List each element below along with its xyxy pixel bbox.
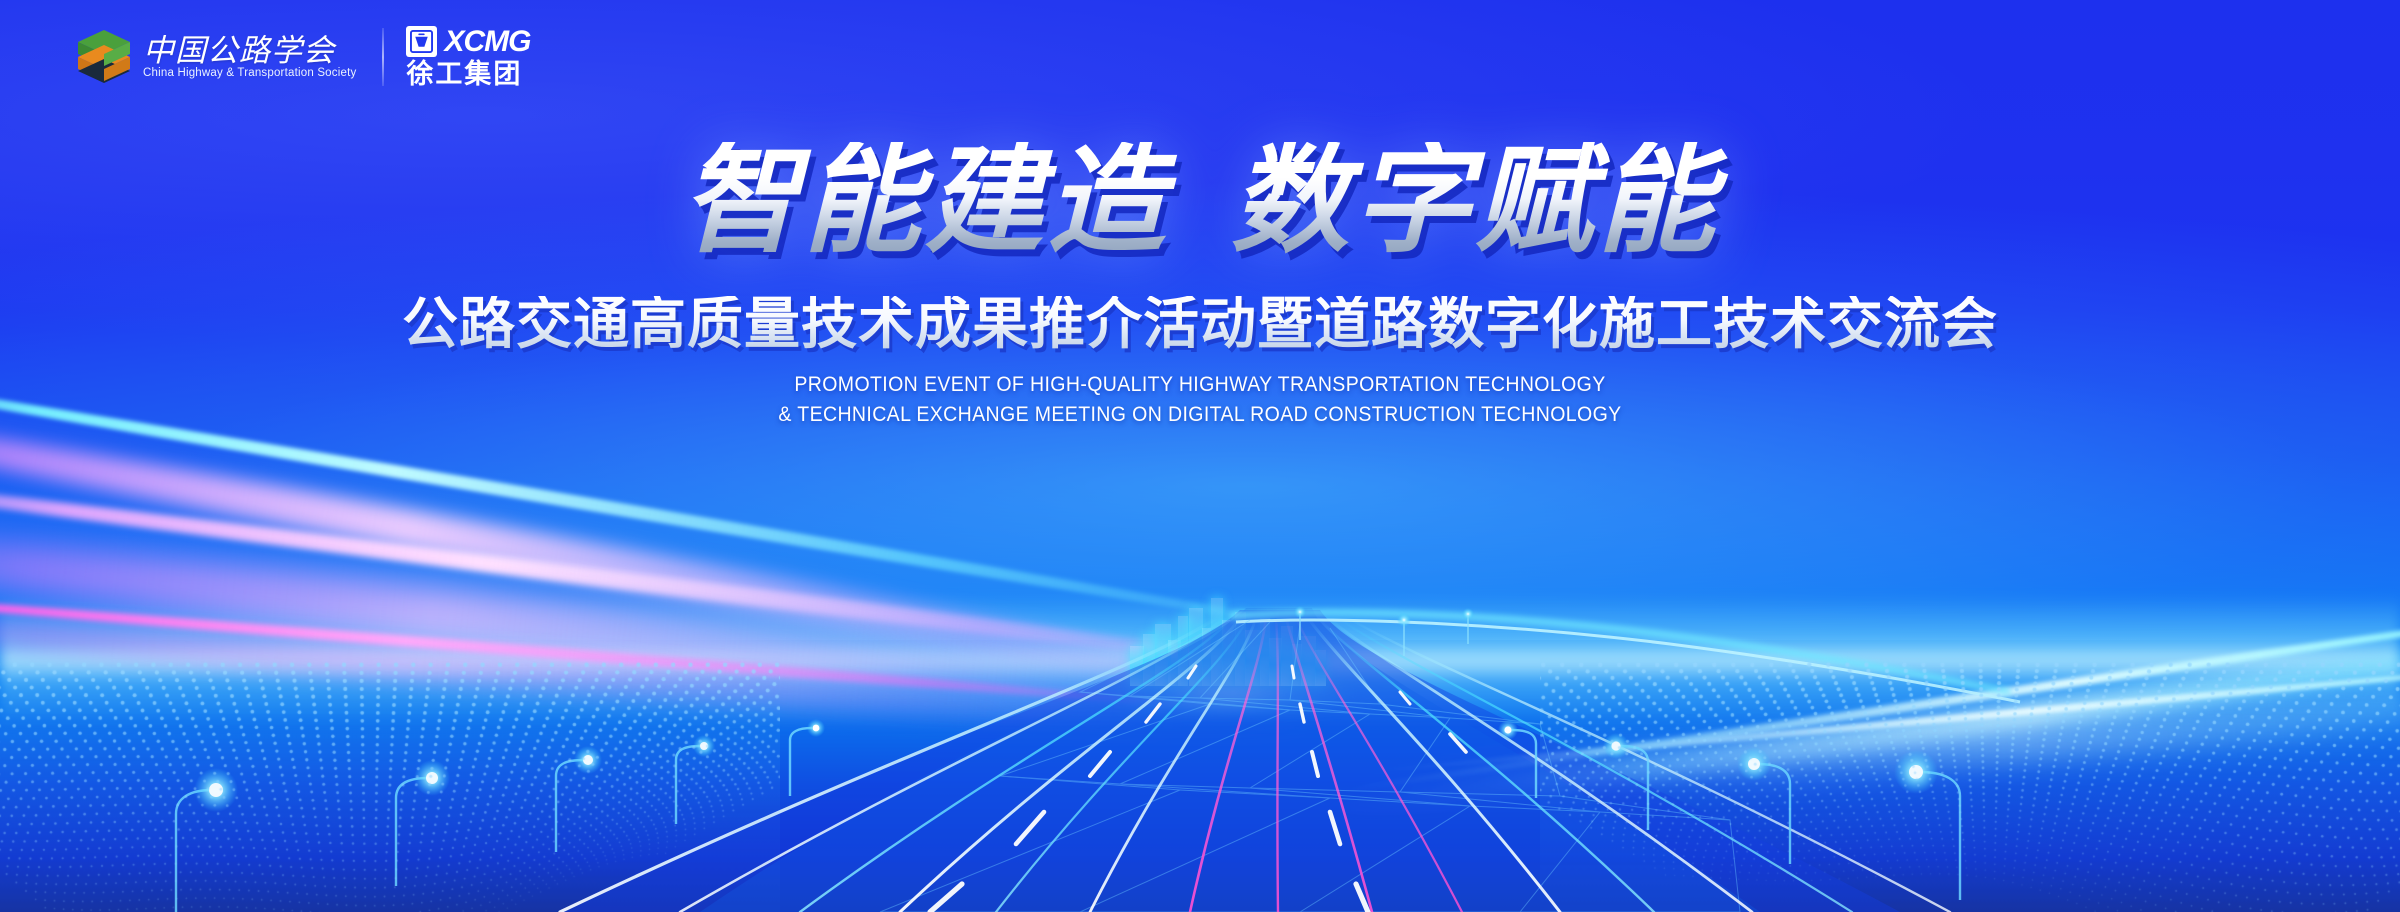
particle-wave-right bbox=[1540, 652, 2400, 912]
city-building bbox=[1143, 634, 1155, 686]
subtitle-chinese: 公路交通高质量技术成果推介活动暨道路数字化施工技术交流会 bbox=[0, 296, 2400, 352]
city-building bbox=[1211, 598, 1223, 686]
city-building bbox=[1222, 620, 1236, 686]
main-title-part2: 数字赋能 bbox=[1231, 135, 1719, 267]
glowing-city-skyline bbox=[1128, 596, 1328, 686]
city-building bbox=[1202, 628, 1211, 686]
city-skyline-glow bbox=[1092, 634, 1368, 712]
digital-highway bbox=[0, 600, 2400, 912]
city-building bbox=[1281, 626, 1293, 686]
main-title-part1: 智能建造 bbox=[681, 135, 1169, 267]
city-building bbox=[1168, 640, 1181, 686]
main-title: 智能建造数字赋能 bbox=[0, 142, 2400, 260]
city-building bbox=[1301, 636, 1316, 686]
subtitle-english-line2: & TECHNICAL EXCHANGE MEETING ON DIGITAL … bbox=[84, 400, 2316, 430]
city-building bbox=[1269, 638, 1282, 686]
city-building bbox=[1235, 612, 1246, 686]
horizon-glow-band bbox=[0, 596, 2400, 726]
city-building bbox=[1292, 644, 1302, 686]
conference-banner: 中国公路学会 China Highway & Transportation So… bbox=[0, 0, 2400, 912]
subtitle-english: PROMOTION EVENT OF HIGH-QUALITY HIGHWAY … bbox=[0, 370, 2400, 430]
title-block: 智能建造数字赋能 公路交通高质量技术成果推介活动暨道路数字化施工技术交流会 PR… bbox=[0, 0, 2400, 430]
city-building bbox=[1245, 630, 1261, 686]
city-building bbox=[1315, 650, 1326, 686]
light-streaks-right bbox=[1300, 480, 2400, 780]
city-building bbox=[1178, 616, 1188, 686]
subtitle-english-line1: PROMOTION EVENT OF HIGH-QUALITY HIGHWAY … bbox=[84, 370, 2316, 400]
city-building bbox=[1189, 608, 1203, 686]
city-building bbox=[1155, 624, 1171, 686]
particle-wave-left bbox=[0, 652, 780, 912]
city-building bbox=[1260, 618, 1270, 686]
city-building bbox=[1130, 646, 1144, 686]
